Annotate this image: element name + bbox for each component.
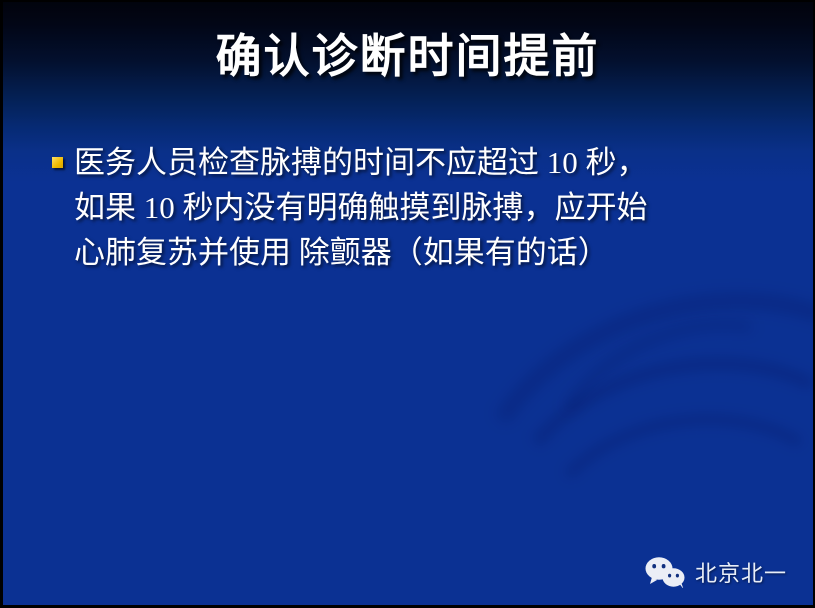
body-line: 医务人员检查脉搏的时间不应超过 10 秒，: [74, 140, 782, 185]
slide-title: 确认诊断时间提前: [0, 32, 815, 83]
bullet-item-text: 医务人员检查脉搏的时间不应超过 10 秒， 如果 10 秒内没有明确触摸到脉搏，…: [74, 140, 782, 275]
decorative-swirl: [423, 237, 815, 608]
slide-edge-top: [0, 0, 815, 2]
body-line: 心肺复苏并使用 除颤器（如果有的话）: [74, 230, 782, 275]
watermark: 北京北一: [644, 556, 787, 588]
decorative-swirl: [522, 282, 815, 547]
watermark-label: 北京北一: [695, 556, 787, 588]
bullet-list: 医务人员检查脉搏的时间不应超过 10 秒， 如果 10 秒内没有明确触摸到脉搏，…: [52, 140, 782, 275]
wechat-icon: [644, 556, 686, 588]
slide: 确认诊断时间提前 医务人员检查脉搏的时间不应超过 10 秒， 如果 10 秒内没…: [0, 0, 815, 608]
slide-edge-left: [0, 0, 3, 608]
body-line: 如果 10 秒内没有明确触摸到脉搏，应开始: [74, 185, 782, 230]
square-bullet-icon: [52, 157, 63, 168]
